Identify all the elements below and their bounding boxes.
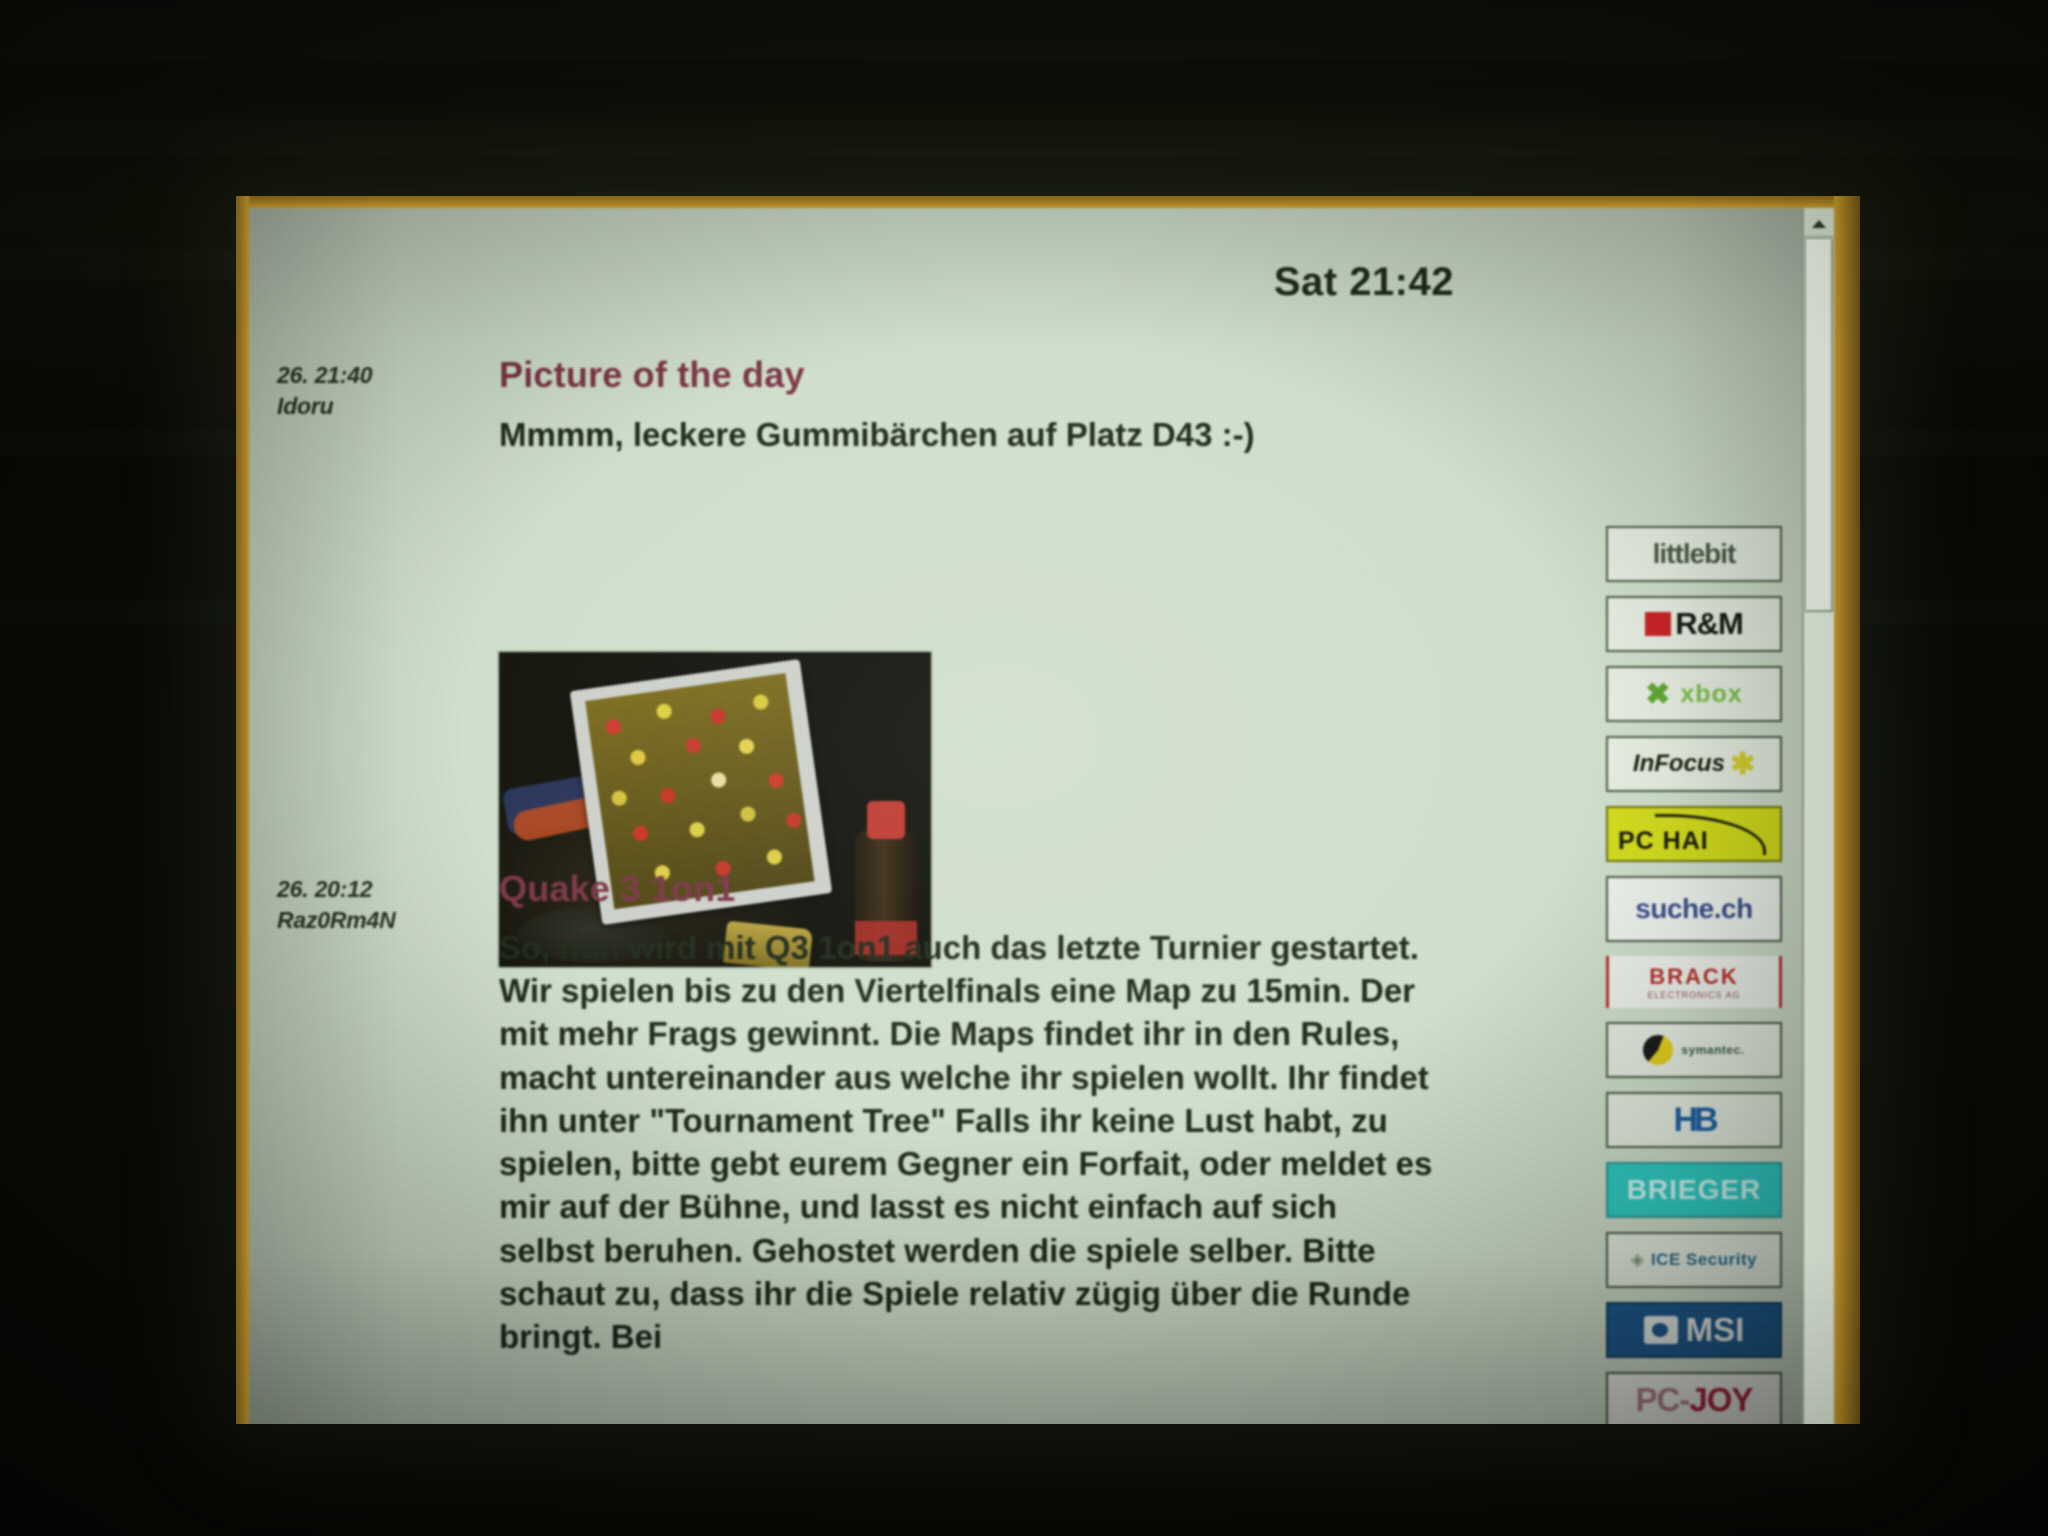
post-image-gummy-bears[interactable] bbox=[499, 652, 931, 967]
banner-hb-label: HB bbox=[1673, 1101, 1714, 1140]
sponsor-banner-column: littlebit R&M ✖ xbox InFocu bbox=[1606, 526, 1782, 1424]
banner-pc-joy[interactable]: PC-JOY bbox=[1606, 1372, 1782, 1424]
post-picture-of-the-day: 26. 21:40 Idoru Picture of the day Mmmm,… bbox=[249, 354, 1834, 834]
projected-screen: Sat 21:42 26. 21:40 Idoru Picture of the… bbox=[236, 196, 1860, 1424]
banner-infocus[interactable]: InFocus ✱ bbox=[1606, 736, 1782, 792]
banner-pc-hai[interactable]: PC HAI bbox=[1606, 806, 1782, 862]
page-scrollbar[interactable] bbox=[1802, 208, 1834, 1424]
banner-brack-label: BRACK bbox=[1649, 964, 1738, 990]
window-frame-top bbox=[236, 196, 1860, 208]
post-author[interactable]: Idoru bbox=[277, 391, 487, 422]
scroll-up-button[interactable] bbox=[1804, 208, 1834, 237]
banner-littlebit[interactable]: littlebit bbox=[1606, 526, 1782, 582]
clock: Sat 21:42 bbox=[1274, 260, 1454, 305]
post-meta: 26. 21:40 Idoru bbox=[277, 360, 487, 421]
post-subtitle: Mmmm, leckere Gummibärchen auf Platz D43… bbox=[499, 416, 1255, 454]
banner-pc-hai-label: PC HAI bbox=[1618, 827, 1709, 856]
post-title[interactable]: Picture of the day bbox=[499, 354, 805, 396]
chevron-up-icon bbox=[1812, 220, 1826, 228]
dark-room-background: Sat 21:42 26. 21:40 Idoru Picture of the… bbox=[0, 0, 2048, 1536]
banner-r-und-m[interactable]: R&M bbox=[1606, 596, 1782, 652]
post-date: 26. 21:40 bbox=[277, 360, 487, 391]
post-body: So, nun wird mit Q3 1on1 auch das letzte… bbox=[499, 926, 1434, 1358]
post-date: 26. 20:12 bbox=[277, 874, 487, 905]
banner-pc-joy-label-1: PC- bbox=[1636, 1381, 1690, 1418]
banner-pc-joy-label-2: JOY bbox=[1689, 1381, 1752, 1418]
banner-brieger[interactable]: BRIEGER bbox=[1606, 1162, 1782, 1218]
post-title[interactable]: Quake 3 1on1 bbox=[499, 868, 736, 910]
banner-hb[interactable]: HB bbox=[1606, 1092, 1782, 1148]
banner-symantec[interactable]: symantec. bbox=[1606, 1022, 1782, 1078]
banner-infocus-label: InFocus bbox=[1633, 750, 1725, 778]
banner-msi[interactable]: MSI bbox=[1606, 1302, 1782, 1358]
banner-brack-sublabel: ELECTRONICS AG bbox=[1647, 990, 1740, 1000]
window-frame-right bbox=[1834, 196, 1860, 1424]
banner-suche-ch[interactable]: suche.ch bbox=[1606, 876, 1782, 942]
banner-r-und-m-label: R&M bbox=[1675, 606, 1743, 642]
banner-xbox[interactable]: ✖ xbox bbox=[1606, 666, 1782, 722]
xbox-x-icon: ✖ bbox=[1645, 677, 1670, 712]
ice-security-icon: ◈ bbox=[1631, 1250, 1644, 1270]
banner-ice-security-label: ICE Security bbox=[1651, 1250, 1757, 1270]
banner-suche-ch-label: suche.ch bbox=[1635, 893, 1752, 925]
post-author[interactable]: Raz0Rm4N bbox=[277, 905, 487, 936]
web-page: Sat 21:42 26. 21:40 Idoru Picture of the… bbox=[249, 208, 1834, 1424]
banner-brieger-label: BRIEGER bbox=[1627, 1174, 1762, 1206]
banner-msi-label: MSI bbox=[1686, 1311, 1745, 1349]
scrollbar-thumb[interactable] bbox=[1805, 238, 1833, 612]
post-meta: 26. 20:12 Raz0Rm4N bbox=[277, 874, 487, 935]
banner-littlebit-label: littlebit bbox=[1653, 538, 1736, 570]
symantec-orb-icon bbox=[1643, 1035, 1673, 1065]
r-und-m-square-icon bbox=[1645, 612, 1671, 636]
banner-xbox-label: xbox bbox=[1680, 680, 1742, 709]
banner-symantec-label: symantec. bbox=[1681, 1043, 1744, 1057]
msi-dragon-icon bbox=[1644, 1316, 1678, 1344]
infocus-star-icon: ✱ bbox=[1730, 747, 1755, 782]
window-frame-left bbox=[236, 196, 249, 1424]
banner-brack[interactable]: BRACK ELECTRONICS AG bbox=[1606, 956, 1782, 1008]
banner-ice-security[interactable]: ◈ ICE Security bbox=[1606, 1232, 1782, 1288]
